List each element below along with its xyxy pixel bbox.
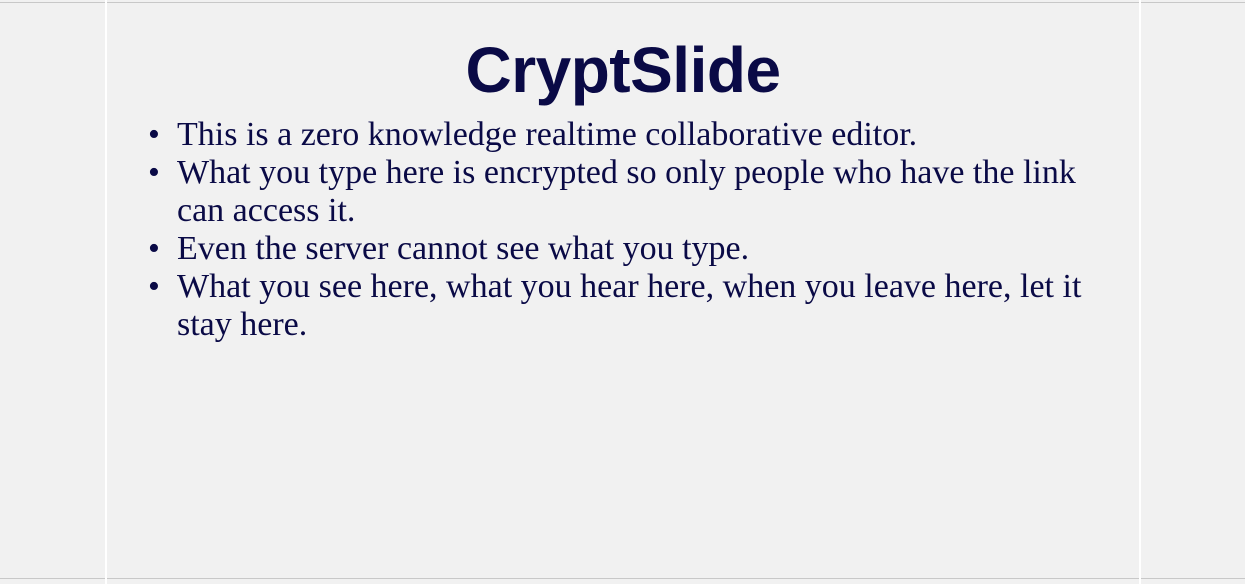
bullet-list-item[interactable]: • What you type here is encrypted so onl… [107, 154, 1139, 230]
bullet-item-text: Even the server cannot see what you type… [177, 230, 1123, 268]
top-divider-rule [0, 2, 1245, 3]
bullet-point-icon: • [148, 230, 162, 268]
slide-viewer: CryptSlide • This is a zero knowledge re… [0, 0, 1245, 584]
bullet-list-item[interactable]: • This is a zero knowledge realtime coll… [107, 116, 1139, 154]
bullet-item-text: This is a zero knowledge realtime collab… [177, 116, 1123, 154]
bullet-point-icon: • [148, 268, 162, 306]
bullet-list-item[interactable]: • Even the server cannot see what you ty… [107, 230, 1139, 268]
bullet-item-text: What you see here, what you hear here, w… [177, 268, 1123, 344]
bullet-point-icon: • [148, 154, 162, 192]
slide-title[interactable]: CryptSlide [107, 4, 1139, 103]
slide-canvas[interactable]: CryptSlide • This is a zero knowledge re… [107, 4, 1139, 578]
bullet-point-icon: • [148, 116, 162, 154]
slide-bullet-list: • This is a zero knowledge realtime coll… [107, 116, 1139, 344]
bottom-divider-rule [0, 578, 1245, 579]
bullet-item-text: What you type here is encrypted so only … [177, 154, 1123, 230]
right-slide-gutter [1139, 0, 1141, 584]
bullet-list-item[interactable]: • What you see here, what you hear here,… [107, 268, 1139, 344]
